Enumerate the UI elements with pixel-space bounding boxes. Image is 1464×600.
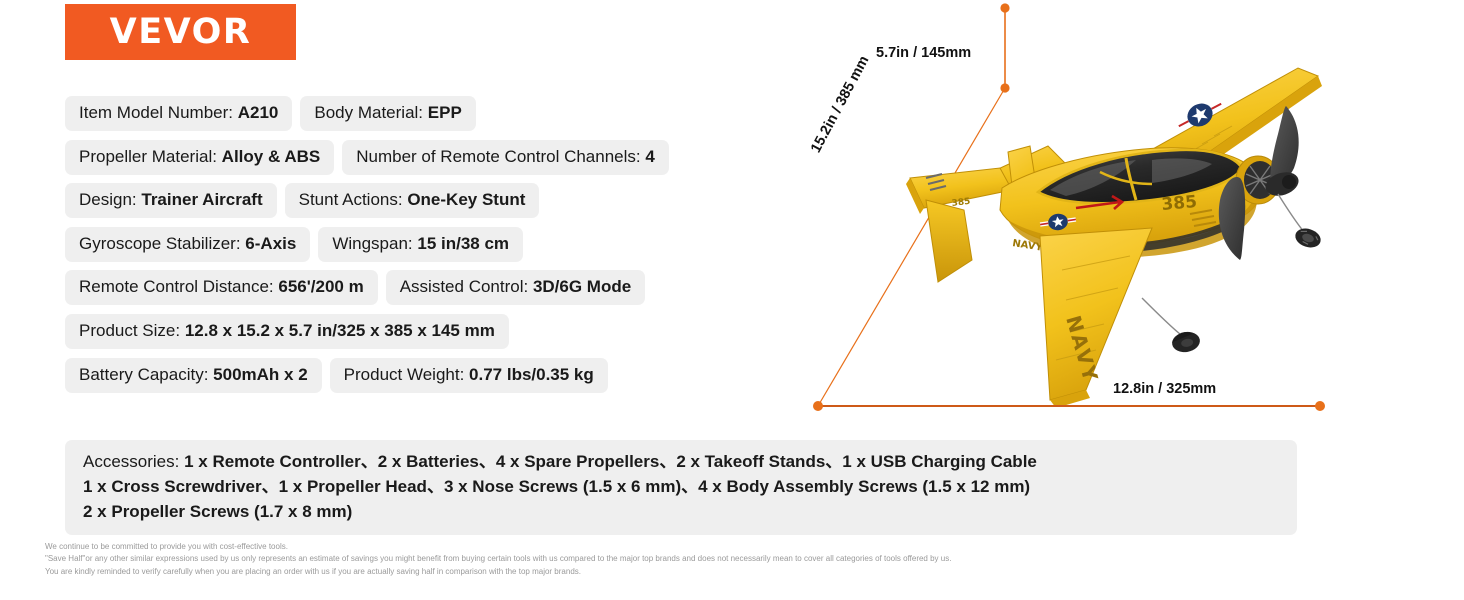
spec-stunt-actions: Stunt Actions: One-Key Stunt [285,183,540,218]
spec-key: Propeller Material: [79,147,222,166]
spec-gyroscope-stabilizer: Gyroscope Stabilizer: 6-Axis [65,227,310,262]
spec-item-model-number: Item Model Number: A210 [65,96,292,131]
accessories-items-1: 1 x Remote Controller、2 x Batteries、4 x … [184,452,1037,471]
spec-value: 15 in/38 cm [417,234,509,253]
product-dimension-figure: 5.7in / 145mm 15.2in / 385 mm 12.8in / 3… [790,0,1350,430]
spec-value: 3D/6G Mode [533,277,631,296]
spec-design: Design: Trainer Aircraft [65,183,277,218]
fuselage-number-text: 385 [1161,192,1198,215]
disclaimer-line-3: You are kindly reminded to verify carefu… [45,566,1145,577]
spec-key: Remote Control Distance: [79,277,278,296]
spec-key: Gyroscope Stabilizer: [79,234,245,253]
spec-key: Product Weight: [344,365,469,384]
aircraft-front-wing: NAVY [1040,228,1152,405]
rc-airplane-image: 385 3 [890,60,1330,405]
spec-key: Product Size: [79,321,185,340]
height-dimension-label: 5.7in / 145mm [876,45,971,61]
spec-row: Design: Trainer Aircraft Stunt Actions: … [65,183,825,218]
spec-value: 6-Axis [245,234,296,253]
spec-key: Item Model Number: [79,103,238,122]
spec-product-size: Product Size: 12.8 x 15.2 x 5.7 in/325 x… [65,314,509,349]
spec-row: Propeller Material: Alloy & ABS Number o… [65,140,825,175]
spec-value: A210 [238,103,279,122]
disclaimer-line-2: "Save Half"or any other similar expressi… [45,553,1145,564]
spec-value: 12.8 x 15.2 x 5.7 in/325 x 385 x 145 mm [185,321,495,340]
spec-key: Battery Capacity: [79,365,213,384]
vevor-logo: VEVOR [65,4,296,60]
spec-row: Battery Capacity: 500mAh x 2 Product Wei… [65,358,825,393]
spec-row: Gyroscope Stabilizer: 6-Axis Wingspan: 1… [65,227,825,262]
accessories-line-2: 1 x Cross Screwdriver、1 x Propeller Head… [83,474,1281,499]
disclaimer-line-1: We continue to be committed to provide y… [45,541,1145,552]
spec-value: 4 [645,147,654,166]
specification-list: Item Model Number: A210 Body Material: E… [65,96,825,401]
spec-value: Alloy & ABS [222,147,321,166]
spec-assisted-control: Assisted Control: 3D/6G Mode [386,270,645,305]
spec-body-material: Body Material: EPP [300,96,475,131]
accessories-label: Accessories: [83,452,184,471]
product-spec-page: VEVOR Item Model Number: A210 Body Mater… [0,0,1464,600]
landing-wheel-front [1293,225,1323,250]
accessories-line-1: Accessories: 1 x Remote Controller、2 x B… [83,449,1281,474]
spec-key: Body Material: [314,103,427,122]
accessories-line-3: 2 x Propeller Screws (1.7 x 8 mm) [83,499,1281,524]
spec-value: 0.77 lbs/0.35 kg [469,365,594,384]
spec-key: Wingspan: [332,234,417,253]
height-top-endpoint [1000,3,1009,12]
width-left-endpoint [813,401,823,411]
spec-row: Remote Control Distance: 656'/200 m Assi… [65,270,825,305]
spec-key: Stunt Actions: [299,190,408,209]
spec-battery-capacity: Battery Capacity: 500mAh x 2 [65,358,322,393]
spec-remote-control-distance: Remote Control Distance: 656'/200 m [65,270,378,305]
disclaimer-text: We continue to be committed to provide y… [45,541,1145,578]
vevor-wordmark: VEVOR [110,12,252,52]
spec-remote-control-channels: Number of Remote Control Channels: 4 [342,140,669,175]
spec-key: Number of Remote Control Channels: [356,147,645,166]
spec-value: EPP [428,103,462,122]
tail-number-text: 385 [951,197,971,209]
spec-value: 500mAh x 2 [213,365,308,384]
spec-key: Design: [79,190,141,209]
spec-value: One-Key Stunt [407,190,525,209]
spec-value: Trainer Aircraft [141,190,262,209]
spec-row: Item Model Number: A210 Body Material: E… [65,96,825,131]
spec-wingspan: Wingspan: 15 in/38 cm [318,227,523,262]
accessories-block: Accessories: 1 x Remote Controller、2 x B… [65,440,1297,535]
landing-wheel-rear [1170,330,1201,355]
spec-value: 656'/200 m [278,277,363,296]
spec-propeller-material: Propeller Material: Alloy & ABS [65,140,334,175]
spec-product-weight: Product Weight: 0.77 lbs/0.35 kg [330,358,608,393]
spec-key: Assisted Control: [400,277,533,296]
spec-row: Product Size: 12.8 x 15.2 x 5.7 in/325 x… [65,314,825,349]
